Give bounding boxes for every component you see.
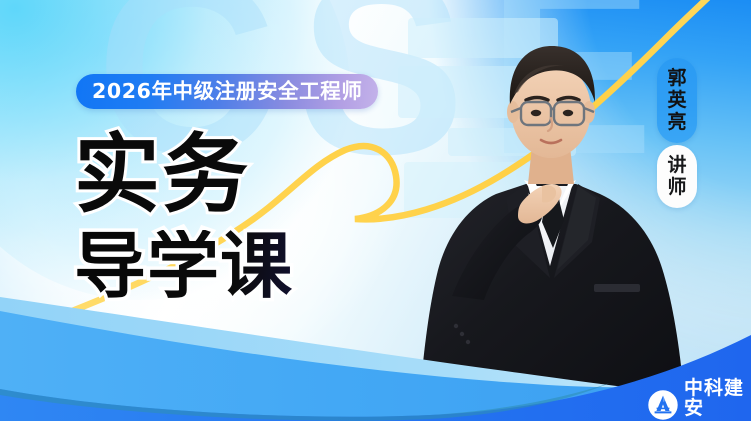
headline-group: 实务 导学课 <box>74 132 414 302</box>
brand-logo: 中科建安 www.zkjan.com <box>648 379 751 421</box>
instructor-name-char-3: 亮 <box>667 111 686 133</box>
instructor-name-pill: 郭 英 亮 <box>657 58 697 143</box>
zkjan-circle-logo-icon <box>648 390 678 420</box>
course-banner: CSE <box>0 0 751 421</box>
instructor-role-char-1: 讲 <box>667 154 686 176</box>
instructor-name-char-1: 郭 <box>667 67 686 89</box>
instructor-role-char-2: 师 <box>667 176 686 198</box>
headline-secondary: 导学课 <box>74 230 414 302</box>
brand-name: 中科建安 <box>684 379 751 419</box>
course-badge-label: 2026年中级注册安全工程师 <box>92 81 362 102</box>
instructor-role-pill: 讲 师 <box>657 145 697 208</box>
brand-logo-texts: 中科建安 www.zkjan.com <box>684 379 751 421</box>
course-badge: 2026年中级注册安全工程师 <box>76 74 378 109</box>
instructor-name-char-2: 英 <box>667 89 686 111</box>
headline-primary: 实务 <box>74 132 414 218</box>
